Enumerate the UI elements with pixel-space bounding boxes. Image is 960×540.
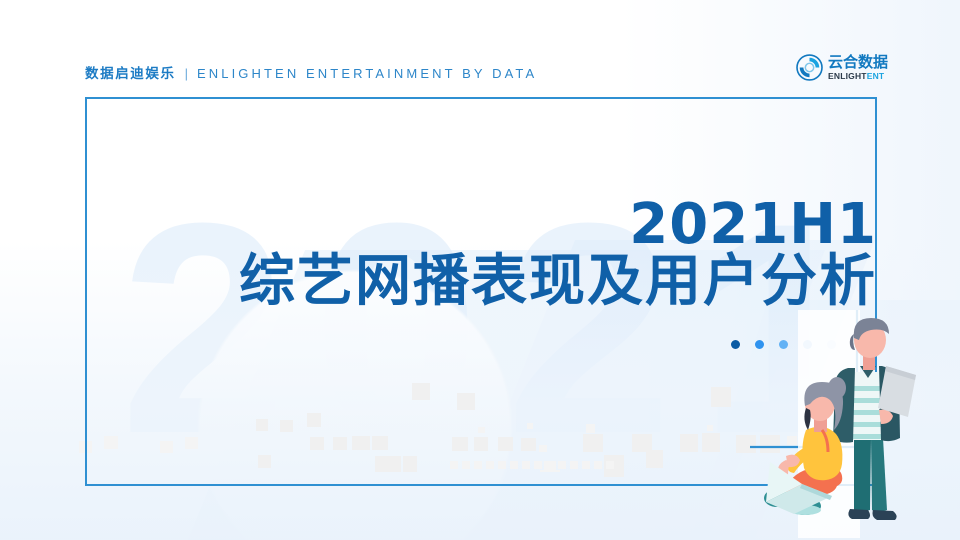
logo-text-block: 云合数据 ENLIGHTENT	[828, 55, 888, 81]
header-brand-chinese: 数据启迪娱乐	[85, 62, 176, 82]
swirl-circle-icon	[796, 54, 823, 81]
logo-name-english-primary: ENLIGHT	[828, 71, 867, 81]
man-shoe-left	[848, 509, 870, 519]
man-shoe-right	[873, 510, 897, 520]
decorative-dot-1	[731, 340, 740, 349]
header-brand-separator: |	[185, 66, 188, 81]
illustration-svg	[750, 310, 960, 540]
man-leg-right	[871, 438, 887, 513]
header-brand-english: ENLIGHTEN ENTERTAINMENT BY DATA	[197, 66, 537, 81]
header-brandline: 数据启迪娱乐 | ENLIGHTEN ENTERTAINMENT BY DATA	[85, 62, 537, 82]
presentation-title-slide: 2021 数据启迪娱乐 | ENLIGHTEN ENTERTAINMENT BY…	[0, 0, 960, 540]
two-people-working-illustration	[750, 310, 960, 540]
page-title-period: 2021H1	[0, 196, 877, 253]
page-title-subject: 综艺网播表现及用户分析	[0, 251, 877, 314]
title-block: 2021H1 综艺网播表现及用户分析	[0, 196, 877, 314]
logo-name-chinese: 云合数据	[828, 55, 888, 70]
logo-name-english: ENLIGHTENT	[828, 72, 888, 81]
man-leg-left	[854, 438, 871, 512]
logo-name-english-accent: ENT	[867, 71, 885, 81]
woman-ponytail	[828, 377, 846, 399]
company-logo[interactable]: 云合数据 ENLIGHTENT	[796, 54, 888, 81]
